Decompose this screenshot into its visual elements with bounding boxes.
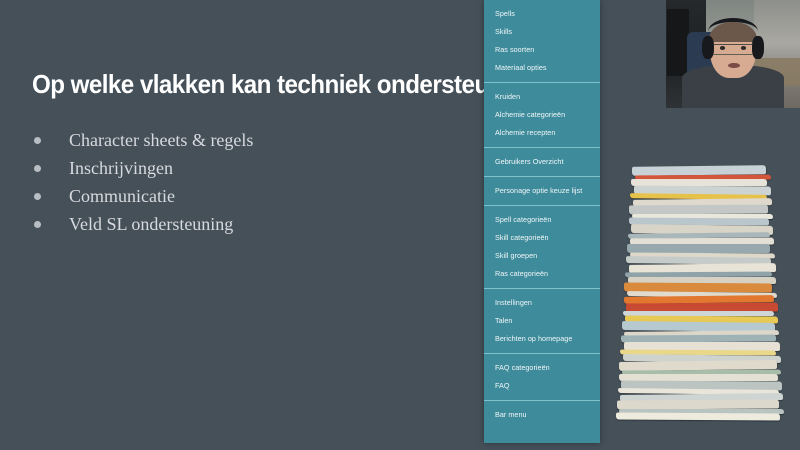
- menu-group: FAQ categorieën FAQ: [484, 354, 600, 401]
- paper-layer: [616, 412, 780, 420]
- menu-item-talen[interactable]: Talen: [484, 312, 600, 330]
- bullet-icon: [34, 193, 41, 200]
- slide-bullet-list: Character sheets & regels Inschrijvingen…: [34, 126, 253, 238]
- glasses-icon: [713, 44, 753, 55]
- presenter-eye-right: [741, 46, 746, 49]
- menu-item-gebruikers-overzicht[interactable]: Gebruikers Overzicht: [484, 153, 600, 171]
- menu-item-skill-groepen[interactable]: Skill groepen: [484, 247, 600, 265]
- menu-item-personage-optie-keuze-lijst[interactable]: Personage optie keuze lijst: [484, 182, 600, 200]
- menu-item-instellingen[interactable]: Instellingen: [484, 294, 600, 312]
- webcam-monitor: [667, 9, 688, 76]
- menu-item-skill-categorieen[interactable]: Skill categorieën: [484, 229, 600, 247]
- paper-layer: [627, 244, 770, 253]
- menu-group: Spell categorieën Skill categorieën Skil…: [484, 206, 600, 289]
- menu-item-alchemie-categorieen[interactable]: Alchemie categorieën: [484, 106, 600, 124]
- bullet-icon: [34, 221, 41, 228]
- paper-stack-image: [616, 166, 784, 444]
- menu-item-skills[interactable]: Skills: [484, 23, 600, 41]
- presenter-mouth: [728, 63, 740, 68]
- bullet-icon: [34, 137, 41, 144]
- menu-item-faq-categorieen[interactable]: FAQ categorieën: [484, 359, 600, 377]
- menu-group: Gebruikers Overzicht: [484, 148, 600, 177]
- screen-recording-frame: Op welke vlakken kan techniek ondersteun…: [0, 0, 800, 450]
- menu-item-alchemie-recepten[interactable]: Alchemie recepten: [484, 124, 600, 142]
- list-item: Communicatie: [34, 182, 253, 210]
- list-item: Inschrijvingen: [34, 154, 253, 182]
- menu-group: Bar menu: [484, 401, 600, 429]
- menu-group: Spells Skills Ras soorten Materiaal opti…: [484, 0, 600, 83]
- page-title: Op welke vlakken kan techniek ondersteun…: [32, 69, 544, 100]
- menu-item-kruiden[interactable]: Kruiden: [484, 88, 600, 106]
- menu-item-bar-menu[interactable]: Bar menu: [484, 406, 600, 424]
- menu-group: Personage optie keuze lijst: [484, 177, 600, 206]
- admin-menu-panel: Spells Skills Ras soorten Materiaal opti…: [484, 0, 600, 443]
- list-item: Veld SL ondersteuning: [34, 210, 253, 238]
- list-item-label: Character sheets & regels: [69, 130, 253, 151]
- list-item-label: Veld SL ondersteuning: [69, 214, 233, 235]
- headphone-earcup-right: [752, 36, 764, 60]
- webcam-overlay: [666, 0, 800, 108]
- menu-item-ras-categorieen[interactable]: Ras categorieën: [484, 265, 600, 283]
- bullet-icon: [34, 165, 41, 172]
- menu-group: Instellingen Talen Berichten op homepage: [484, 289, 600, 354]
- menu-item-faq[interactable]: FAQ: [484, 377, 600, 395]
- menu-group: Kruiden Alchemie categorieën Alchemie re…: [484, 83, 600, 148]
- menu-item-materiaal-opties[interactable]: Materiaal opties: [484, 59, 600, 77]
- menu-item-berichten-op-homepage[interactable]: Berichten op homepage: [484, 330, 600, 348]
- menu-item-ras-soorten[interactable]: Ras soorten: [484, 41, 600, 59]
- list-item: Character sheets & regels: [34, 126, 253, 154]
- list-item-label: Communicatie: [69, 186, 175, 207]
- menu-item-spells[interactable]: Spells: [484, 5, 600, 23]
- presenter-eye-left: [720, 46, 725, 49]
- menu-item-spell-categorieen[interactable]: Spell categorieën: [484, 211, 600, 229]
- list-item-label: Inschrijvingen: [69, 158, 173, 179]
